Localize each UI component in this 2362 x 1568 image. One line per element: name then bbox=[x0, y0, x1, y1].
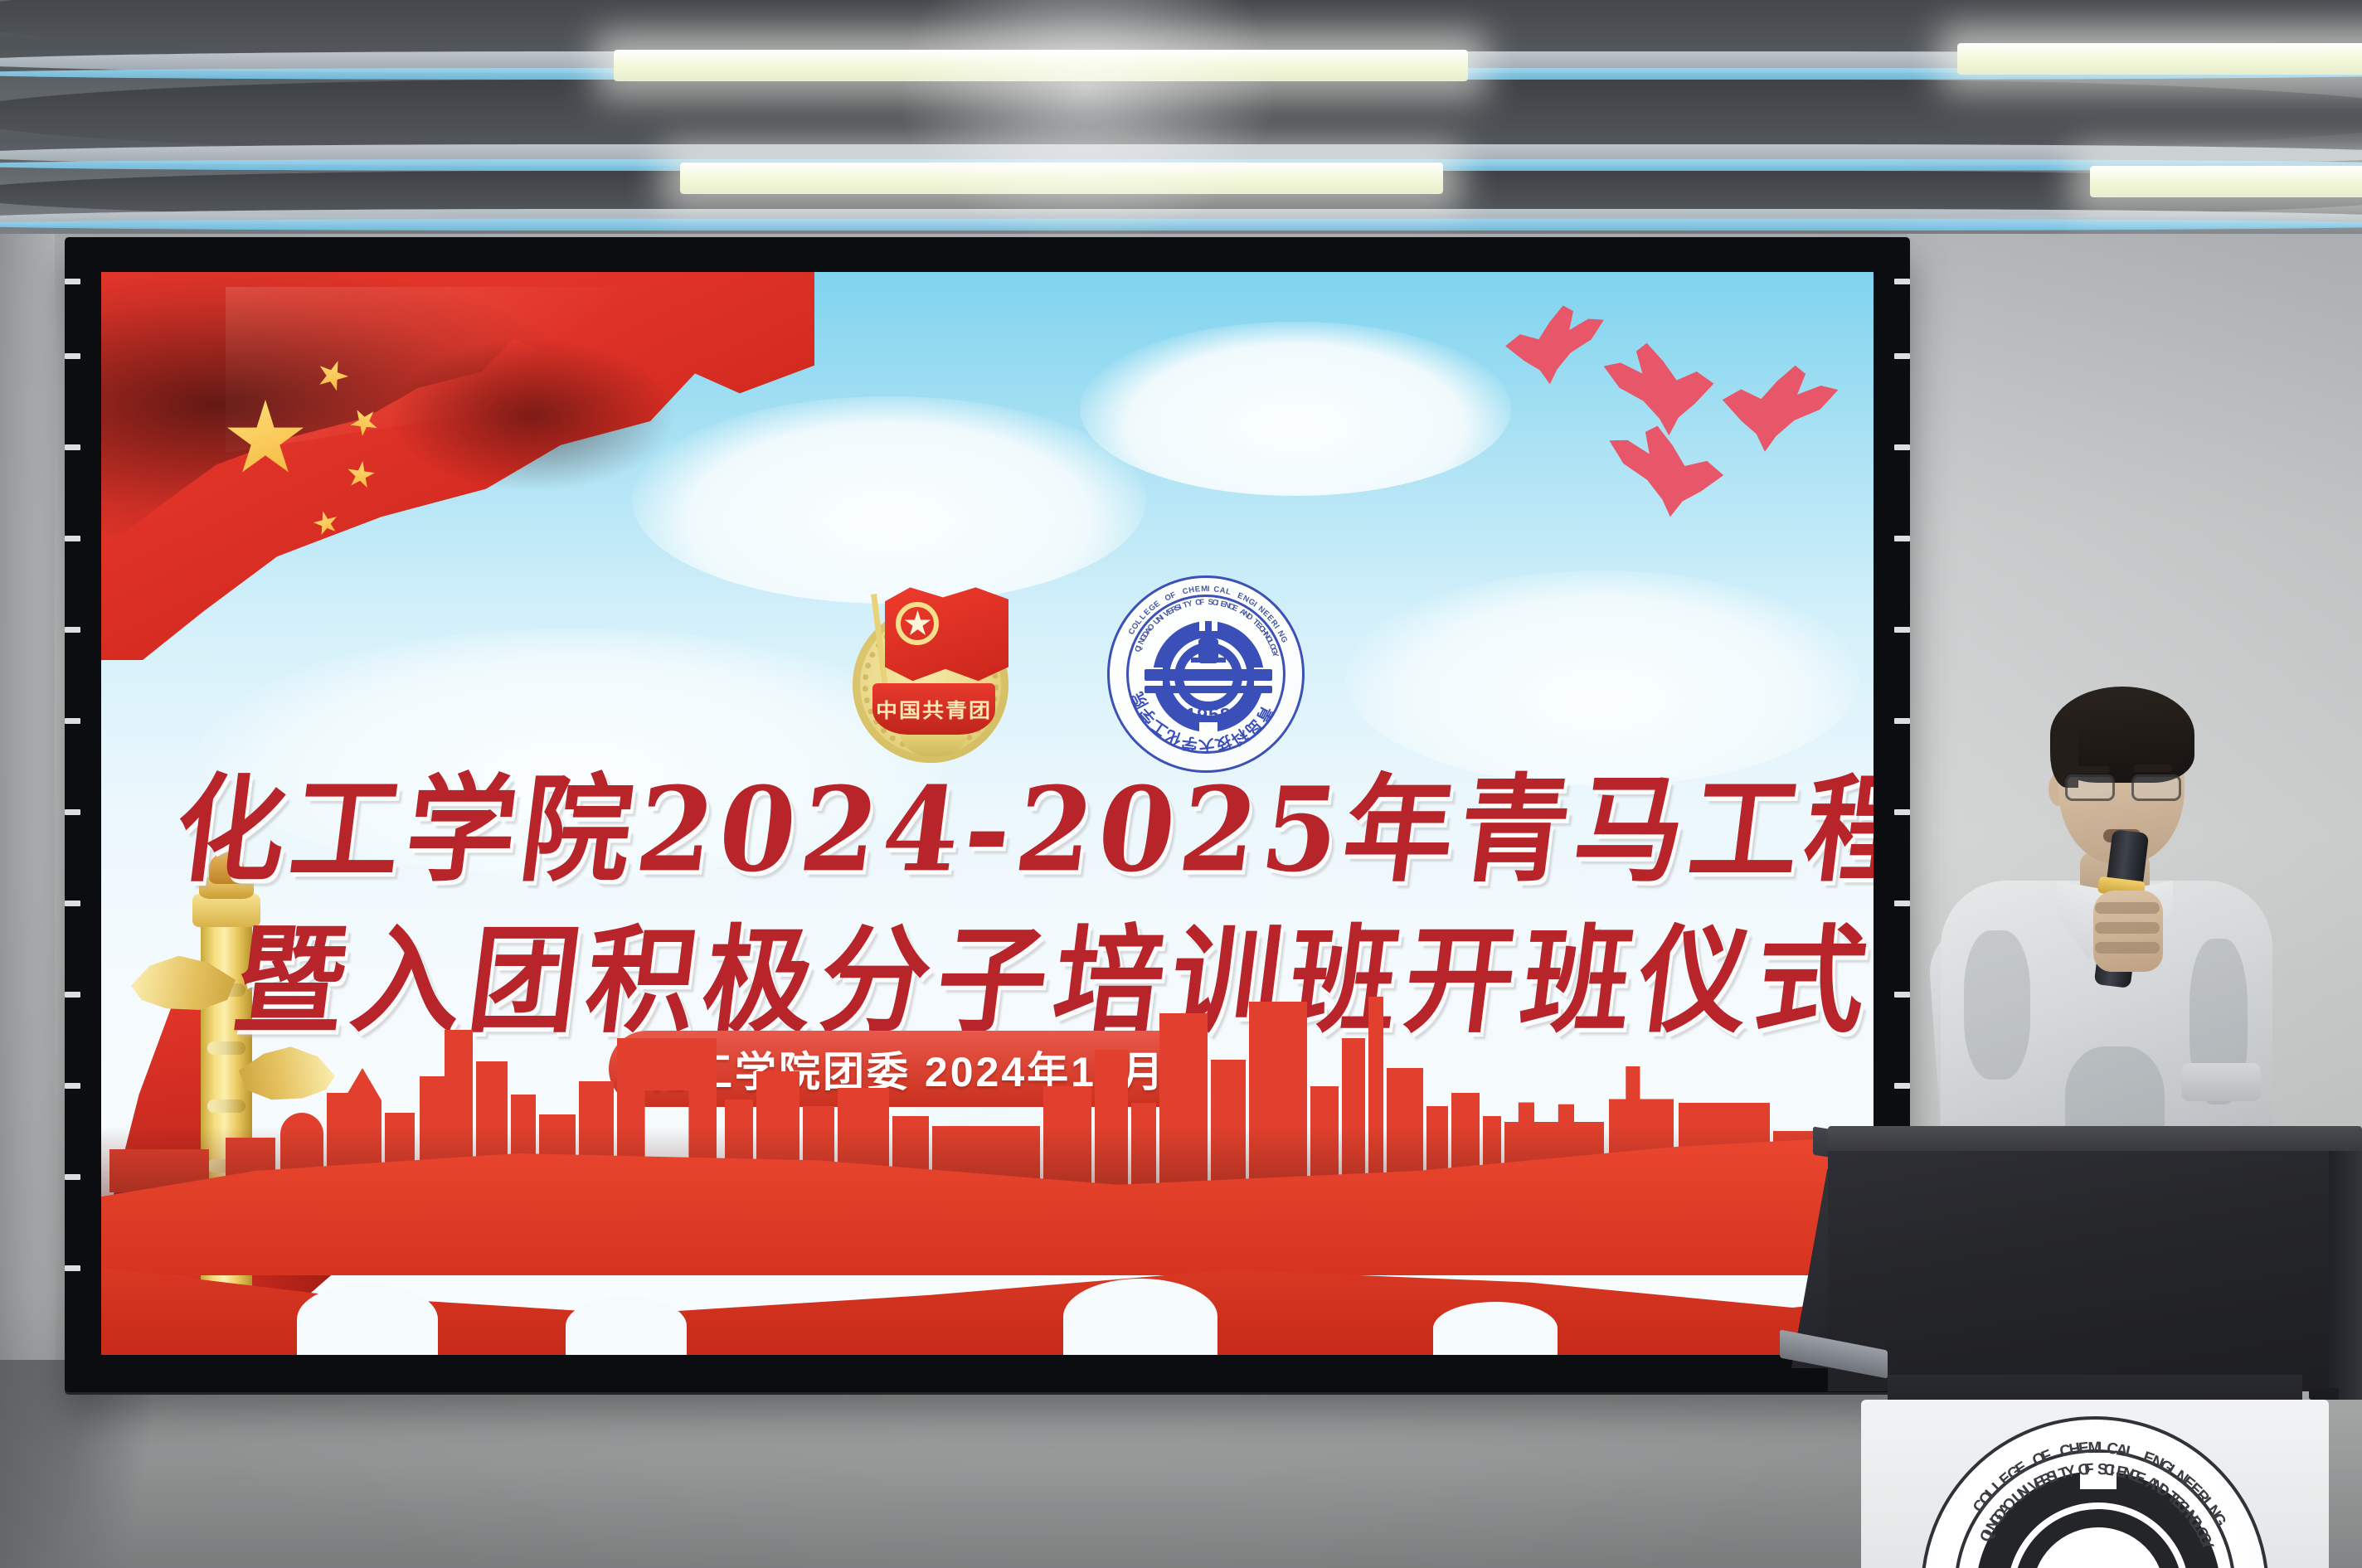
dove-icon bbox=[1494, 295, 1616, 398]
lectern-podium: COLLEGE OF CHEMICAL ENGINEERING QINGDAO … bbox=[1828, 1126, 2362, 1568]
lens-glare bbox=[896, 0, 1277, 234]
podium-university-emblem-icon: COLLEGE OF CHEMICAL ENGINEERING QINGDAO … bbox=[1921, 1416, 2269, 1568]
lecture-hall-scene: 中国共青团 bbox=[0, 0, 2362, 1568]
dove-icon bbox=[1715, 361, 1842, 460]
ceiling-lamp bbox=[2090, 166, 2362, 197]
cloud bbox=[1080, 322, 1511, 496]
bezel-tick-marks-left bbox=[65, 237, 83, 1392]
slide-canvas: 中国共青团 bbox=[101, 272, 1874, 1355]
speaker-cuff bbox=[2181, 1063, 2261, 1101]
chinese-national-flag-icon bbox=[101, 272, 814, 660]
wave-gap bbox=[297, 1284, 438, 1355]
slide-title-line-1: 化工学院2024-2025年青马工程培训班 bbox=[168, 736, 1874, 904]
presentation-screen[interactable]: 中国共青团 bbox=[65, 237, 1910, 1392]
speaker-brow bbox=[2070, 766, 2110, 774]
glasses-icon bbox=[2065, 774, 2181, 803]
cyl-band-text: 中国共青团 bbox=[876, 695, 992, 723]
podium-front-face bbox=[1828, 1151, 2362, 1391]
ceiling bbox=[0, 0, 2362, 234]
dove-icon bbox=[1592, 412, 1737, 534]
wave-gap bbox=[1433, 1302, 1558, 1355]
speaker-person bbox=[1941, 673, 2272, 1187]
ceiling-lamp bbox=[1957, 43, 2362, 75]
speaker-brow bbox=[2133, 765, 2173, 772]
wave-gap bbox=[1063, 1279, 1217, 1355]
cyl-band: 中国共青团 bbox=[872, 683, 995, 735]
wave-gap bbox=[566, 1297, 687, 1355]
podium-emblem-panel: COLLEGE OF CHEMICAL ENGINEERING QINGDAO … bbox=[1861, 1400, 2329, 1568]
